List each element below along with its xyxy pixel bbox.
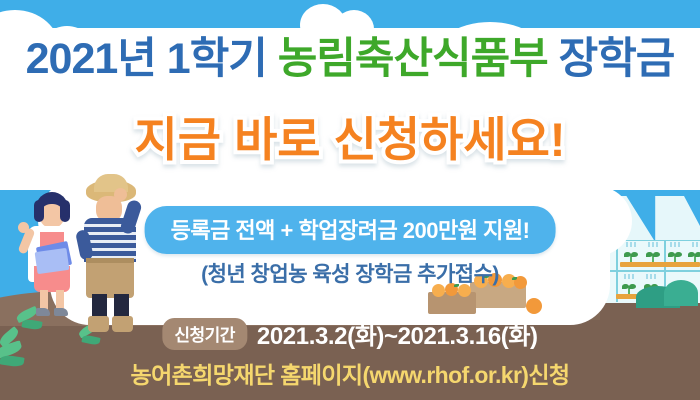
man-apron	[86, 258, 134, 298]
seedling-icon	[668, 250, 682, 262]
orange-fruit-loose	[526, 298, 542, 314]
seedling-icon	[622, 282, 636, 294]
seedling-icon	[624, 250, 638, 262]
footer-website-note: 농어촌희망재단 홈페이지(www.rhof.or.kr)신청	[131, 356, 570, 390]
application-period-dates: 2021.3.2(화)~2021.3.16(화)	[257, 316, 538, 351]
man-boot	[112, 316, 133, 332]
headline-part-scholarship: 장학금	[559, 35, 675, 83]
man-arm-raised	[119, 199, 143, 236]
bush-shrub	[664, 280, 698, 306]
woman-shoe	[36, 308, 50, 316]
seedling-icon	[688, 250, 700, 262]
scholarship-promo-banner: 2021년 1학기 농림축산식품부 장학금 지금 바로 신청하세요! 등록금 전…	[0, 0, 700, 400]
woman-hand-waving	[18, 222, 29, 233]
seedling-icon	[646, 250, 660, 262]
application-period-badge: 신청기간	[162, 318, 247, 350]
man-boot	[88, 316, 109, 332]
application-period-row: 신청기간 2021.3.2(화)~2021.3.16(화)	[162, 316, 537, 351]
man-farmer-figure	[72, 178, 154, 312]
benefit-highlight-pill: 등록금 전액 + 학업장려금 200만원 지원!	[145, 206, 556, 254]
greenhouse-shelf	[620, 262, 700, 267]
headline-primary: 2021년 1학기 농림축산식품부 장학금	[0, 28, 700, 90]
woman-shoe	[54, 308, 68, 316]
sub-note-text: (청년 창업농 육성 장학금 추가접수)	[201, 258, 499, 288]
man-hand-on-hat	[114, 188, 127, 201]
headline-part-ministry: 농림축산식품부	[278, 35, 548, 83]
headline-call-to-action: 지금 바로 신청하세요!	[0, 108, 700, 172]
headline-part-year-semester: 2021년 1학기	[26, 35, 267, 83]
woman-clipboard-paper	[35, 248, 70, 274]
